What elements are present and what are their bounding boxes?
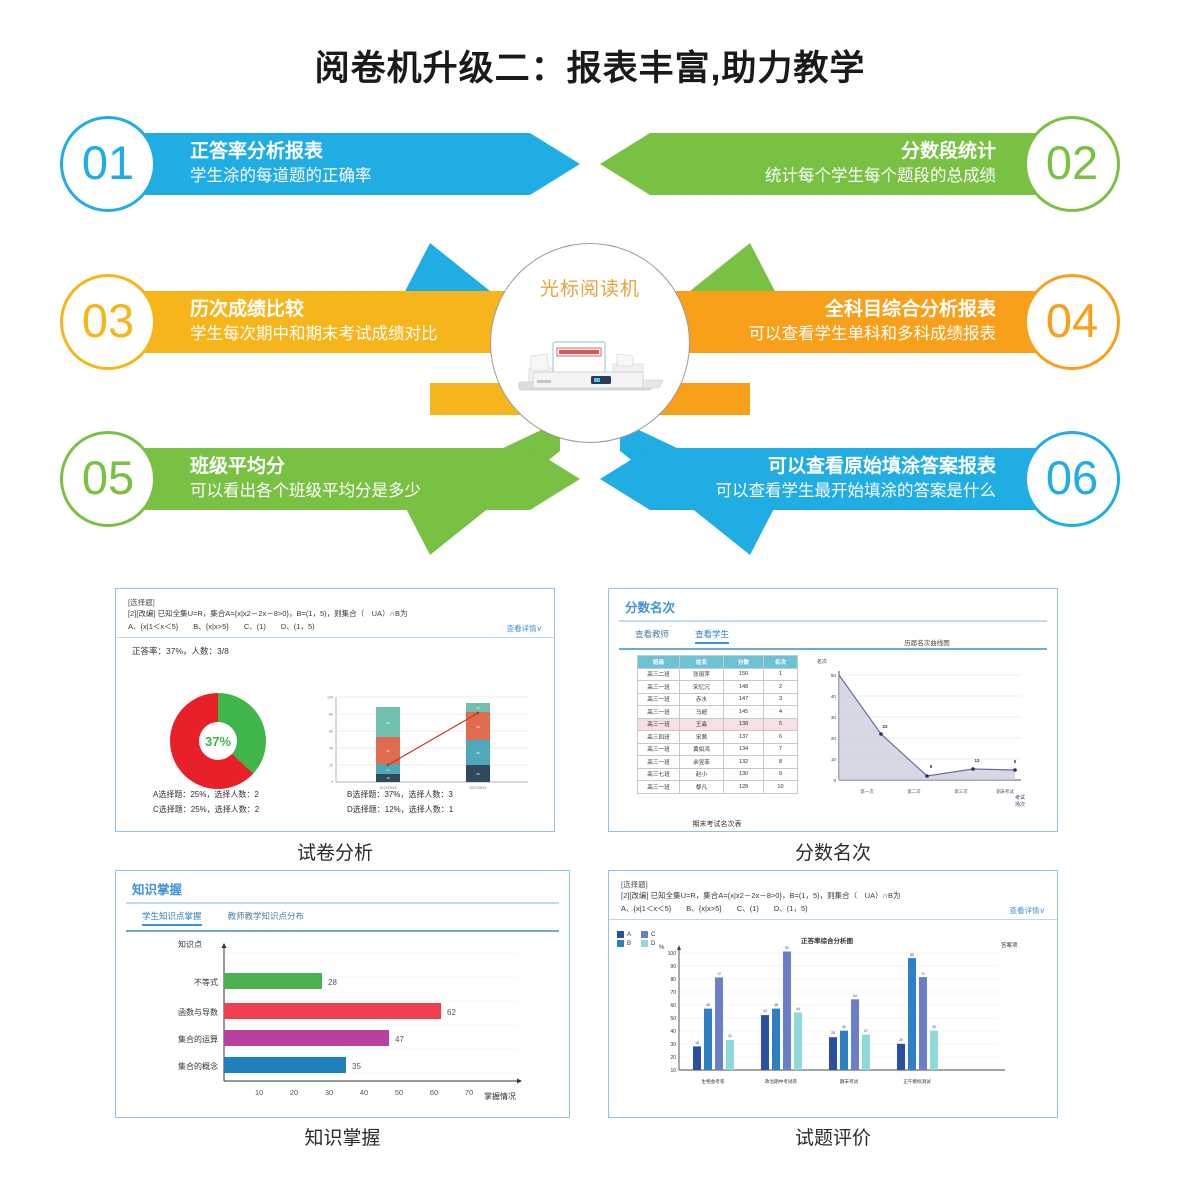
svg-text:20: 20	[290, 1088, 298, 1097]
svg-text:54: 54	[853, 994, 857, 998]
feature-number-label-01: 01	[82, 139, 134, 186]
feature-title-02: 分数段统计	[670, 140, 996, 164]
table-row: 高三一班余昱菲1328	[638, 756, 798, 769]
cell-score: 134	[724, 743, 764, 756]
page-title: 阅卷机升级二：报表丰富,助力教学	[0, 40, 1180, 91]
svg-text:48: 48	[706, 1003, 710, 1007]
screenshot-panels: [选择题] [2][改编] 已知全集U=R，集合A={x|x2－2x－8>0}，…	[0, 580, 1180, 1180]
svg-text:31: 31	[728, 1034, 732, 1038]
feature-title-01: 正答率分析报表	[190, 140, 510, 164]
svg-text:第一次: 第一次	[860, 788, 874, 795]
table-row-highlighted: 高三一班王淼1385	[638, 718, 798, 731]
svg-text:20: 20	[899, 1038, 903, 1042]
cell-class: 高三一班	[638, 781, 680, 794]
point-label: 8	[930, 764, 933, 769]
svg-text:71: 71	[921, 972, 925, 976]
tab-view-teacher[interactable]: 查看教师	[635, 628, 669, 644]
col-class: 班级	[638, 656, 680, 669]
tab-teacher-knowledge[interactable]: 教师教学知识点分布	[228, 910, 305, 926]
chart-right-note: 答案项	[1001, 941, 1018, 949]
bar-functions	[224, 1003, 441, 1019]
panel-caption-item-eval: 试题评价	[608, 1123, 1058, 1150]
cell-name: 宋忆冗	[680, 681, 724, 694]
svg-text:40: 40	[329, 747, 333, 751]
svg-text:0: 0	[833, 778, 836, 783]
feature-title-05: 班级平均分	[190, 455, 510, 479]
svg-text:42: 42	[763, 1009, 767, 1013]
knowledge-tabs: 学生知识点掌握 教师教学知识点分布	[116, 904, 569, 930]
svg-text:期末考试: 期末考试	[996, 788, 1014, 795]
cell-class: 高三一班	[638, 706, 680, 719]
svg-text:30: 30	[842, 1025, 846, 1029]
panel-knowledge[interactable]: 知识掌握 学生知识点掌握 教师教学知识点分布 知识点 掌握情况	[115, 870, 570, 1118]
svg-text:20: 20	[831, 736, 837, 741]
svg-text:0: 0	[331, 780, 333, 784]
axis-label-x: 考试	[1015, 794, 1025, 801]
cell-name: 黎凡	[680, 781, 724, 794]
feature-number-label-04: 04	[1046, 297, 1098, 344]
svg-text:40: 40	[831, 694, 837, 699]
rank-table-caption: 期末考试名次表	[637, 819, 797, 829]
feature-number-06: 06	[1024, 431, 1120, 527]
chart-title-text: 正答率综合分析图	[801, 936, 854, 945]
panel-caption-knowledge: 知识掌握	[115, 1123, 570, 1150]
cell-class: 高三七班	[638, 768, 680, 781]
feature-row-06[interactable]: 可以查看原始填涂答案报表 可以查看学生最开始填涂的答案是什么 06	[600, 440, 1120, 518]
col-score: 分数	[724, 656, 764, 669]
svg-text:100: 100	[668, 951, 677, 957]
svg-text:27: 27	[864, 1029, 868, 1033]
point-label: 13	[974, 758, 980, 763]
svg-text:100: 100	[327, 696, 333, 700]
question-block-2: [选择题] [2][改编] 已知全集U=R，集合A={x|x2－2x－8>0}，…	[609, 871, 1057, 920]
option-stat-a: A选择题：25%，选择人数：2	[153, 787, 323, 802]
axis-label-y: 名次	[817, 658, 827, 665]
feature-banner-01[interactable]: 正答率分析报表 学生涂的每道题的正确率	[120, 133, 580, 195]
knowledge-title: 知识掌握	[116, 871, 569, 902]
svg-text:18: 18	[695, 1041, 699, 1045]
svg-text:70: 70	[670, 990, 676, 996]
svg-text:10: 10	[255, 1088, 263, 1097]
panel-paper-analysis[interactable]: [选择题] [2][改编] 已知全集U=R，集合A={x|x2－2x－8>0}，…	[115, 588, 555, 832]
question-line-1: [2][改编] 已知全集U=R，集合A={x|x2－2x－8>0}，B=(1，5…	[128, 608, 542, 620]
cell-rank: 7	[764, 743, 798, 756]
bar-category: 不等式	[194, 977, 218, 987]
svg-text:第二次: 第二次	[907, 788, 921, 795]
cell-rank: 3	[764, 693, 798, 706]
svg-text:70: 70	[465, 1088, 473, 1097]
cell-class: 高三一班	[638, 718, 680, 731]
cell-class: 高三四班	[638, 731, 680, 744]
bar-inequality	[224, 973, 322, 989]
bar-value: 28	[328, 978, 337, 987]
tab-student-knowledge[interactable]: 学生知识点掌握	[142, 910, 202, 926]
svg-text:60: 60	[329, 730, 333, 734]
svg-text:80: 80	[670, 977, 676, 983]
svg-text:48: 48	[774, 1003, 778, 1007]
cell-rank: 9	[764, 768, 798, 781]
feature-number-label-03: 03	[82, 297, 134, 344]
question-line-2-2: A、{x|1＜x＜5} B、{x|x>5} C、(1) D、(1，5)	[621, 903, 1045, 915]
table-row: 高三一班宋忆冗1482	[638, 681, 798, 694]
svg-text:72: 72	[717, 972, 721, 976]
feature-banner-05[interactable]: 班级平均分 可以看出各个班级平均分是多少	[120, 448, 580, 510]
feature-desc-01: 学生涂的每道题的正确率	[190, 166, 510, 187]
svg-text:40: 40	[670, 1029, 676, 1035]
bar-category: 集合的运算	[178, 1034, 218, 1044]
cell-class: 高三一班	[638, 756, 680, 769]
svg-text:50: 50	[831, 673, 837, 678]
feature-number-label-06: 06	[1046, 454, 1098, 501]
cell-score: 147	[724, 693, 764, 706]
feature-number-label-05: 05	[82, 454, 134, 501]
cell-rank: 10	[764, 781, 798, 794]
cell-score: 128	[724, 781, 764, 794]
bar-value: 47	[395, 1035, 404, 1044]
cell-name: 马超	[680, 706, 724, 719]
col-name: 姓名	[680, 656, 724, 669]
panel-item-eval[interactable]: [选择题] [2][改编] 已知全集U=R，集合A={x|x2－2x－8>0}，…	[608, 870, 1058, 1118]
cell-score: 132	[724, 756, 764, 769]
item-eval-grouped-bar-chart: 正答率综合分析图 答案项 % 10090	[649, 933, 1049, 1113]
svg-text:30: 30	[831, 715, 837, 720]
cell-rank: 2	[764, 681, 798, 694]
group-label: 政治期中考试卷	[765, 1078, 798, 1085]
svg-text:85: 85	[910, 953, 914, 957]
option-stat-d: D选择题：12%，选择人数：1	[347, 802, 517, 817]
panel-caption-paper-analysis: 试卷分析	[115, 838, 555, 865]
cell-name: 王淼	[680, 718, 724, 731]
svg-text:第三次: 第三次	[954, 788, 968, 795]
svg-text:50: 50	[670, 1016, 676, 1022]
cell-name: 赤水	[680, 693, 724, 706]
correct-rate-stat: 正答率：37%，人数：3/8	[116, 638, 554, 657]
question-tag-2: [选择题]	[621, 879, 1045, 890]
question-line-2: A、{x|1＜x＜5} B、{x|x>5} C、(1) D、(1，5)	[128, 621, 542, 633]
feature-desc-05: 可以看出各个班级平均分是多少	[190, 481, 510, 502]
feature-number-04: 04	[1024, 274, 1120, 370]
feature-desc-06: 可以查看学生最开始填涂的答案是什么	[670, 481, 996, 502]
center-hub-label: 光标阅读机	[491, 274, 689, 301]
svg-text:50: 50	[395, 1088, 403, 1097]
cell-score: 138	[724, 718, 764, 731]
svg-text:40: 40	[360, 1088, 368, 1097]
svg-text:80: 80	[329, 713, 333, 717]
cell-rank: 4	[764, 706, 798, 719]
feature-row-02[interactable]: 分数段统计 统计每个学生每个题段的总成绩 02	[600, 125, 1120, 203]
feature-number-05: 05	[60, 431, 156, 527]
correct-rate-donut-chart: 37%	[134, 693, 306, 793]
score-rank-title: 分数名次	[609, 589, 1057, 620]
table-row: 高三一班赤水1473	[638, 693, 798, 706]
feature-number-02: 02	[1024, 116, 1120, 212]
svg-text:20: 20	[670, 1055, 676, 1061]
feature-title-06: 可以查看原始填涂答案报表	[670, 455, 996, 479]
center-hub: 光标阅读机	[490, 243, 690, 443]
cell-name: 宋茜	[680, 731, 724, 744]
panel-caption-score-rank: 分数名次	[608, 838, 1058, 865]
rank-chart-title: 历届名次曲线图	[809, 637, 1045, 647]
rank-table: 班级 姓名 分数 名次 高三二班张丽萍1501 高三一班宋忆冗1482 高三一班…	[637, 655, 798, 794]
table-row: 高三七班赵小1309	[638, 768, 798, 781]
question-block: [选择题] [2][改编] 已知全集U=R，集合A={x|x2－2x－8>0}，…	[116, 589, 554, 638]
table-row: 高三二班张丽萍1501	[638, 668, 798, 681]
svg-text:36: 36	[386, 721, 390, 725]
feature-desc-03: 学生每次期中和期末考试成绩对比	[190, 324, 510, 345]
cell-rank: 8	[764, 756, 798, 769]
svg-text:90: 90	[670, 964, 676, 970]
table-row: 高三一班黎凡12810	[638, 781, 798, 794]
table-header-row: 班级 姓名 分数 名次	[638, 656, 798, 669]
tab-view-student[interactable]: 查看学生	[695, 628, 729, 644]
cell-score: 150	[724, 668, 764, 681]
group-label: 生物会考卷	[702, 1078, 725, 1085]
feature-title-03: 历次成绩比较	[190, 298, 510, 322]
feature-row-05[interactable]: 班级平均分 可以看出各个班级平均分是多少 05	[60, 440, 580, 518]
table-row: 高三四班宋茜1376	[638, 731, 798, 744]
feature-number-03: 03	[60, 274, 156, 370]
group-label: 期末考试	[840, 1078, 859, 1085]
cell-score: 130	[724, 768, 764, 781]
svg-text:30: 30	[325, 1088, 333, 1097]
cell-class: 高三一班	[638, 693, 680, 706]
cell-score: 148	[724, 681, 764, 694]
option-stat-b: B选择题：37%，选择人数：3	[347, 787, 517, 802]
svg-text:30: 30	[670, 1042, 676, 1048]
table-row: 高三一班黄如鸿1347	[638, 743, 798, 756]
axis-label-x: 掌握情况	[484, 1091, 516, 1101]
feature-number-label-02: 02	[1046, 139, 1098, 186]
svg-text:场次: 场次	[1015, 801, 1025, 808]
view-detail-link[interactable]: 查看详情∨	[507, 623, 543, 634]
cell-rank: 1	[764, 668, 798, 681]
feature-desc-04: 可以查看学生单科和多科成绩报表	[670, 324, 996, 345]
svg-text:20: 20	[329, 764, 333, 768]
svg-text:10: 10	[476, 706, 480, 710]
cell-class: 高三一班	[638, 743, 680, 756]
point-label: 5	[1014, 759, 1017, 764]
group-label: 正午模拟测试	[903, 1078, 931, 1085]
knowledge-hbar-chart: 知识点 掌握情况 28	[136, 933, 556, 1108]
bar-category: 集合的概念	[178, 1061, 218, 1071]
option-stacked-bar-chart: 10080 6040 200 1012 3236 2030	[314, 689, 542, 793]
view-detail-link-2[interactable]: 查看详情∨	[1010, 905, 1046, 916]
svg-text:10: 10	[670, 1068, 676, 1074]
cell-class: 高三一班	[638, 681, 680, 694]
feature-number-01: 01	[60, 116, 156, 212]
feature-banner-06[interactable]: 可以查看原始填涂答案报表 可以查看学生最开始填涂的答案是什么	[600, 448, 1060, 510]
cell-class: 高三二班	[638, 668, 680, 681]
bar-value: 62	[447, 1008, 456, 1017]
cell-score: 145	[724, 706, 764, 719]
option-stat-c: C选择题：25%，选择人数：2	[153, 802, 323, 817]
option-stats: A选择题：25%，选择人数：2 B选择题：37%，选择人数：3 C选择题：25%…	[116, 787, 554, 817]
col-rank: 名次	[764, 656, 798, 669]
cell-name: 赵小	[680, 768, 724, 781]
feature-title-04: 全科目综合分析报表	[670, 298, 996, 322]
bar-set-ops	[224, 1030, 389, 1046]
legend-b: B	[627, 941, 631, 947]
svg-text:10: 10	[386, 776, 390, 780]
donut-center-label: 37%	[199, 722, 237, 760]
svg-text:60: 60	[430, 1088, 438, 1097]
table-row: 高三一班马超1454	[638, 706, 798, 719]
donut-ring: 37%	[170, 693, 266, 789]
question-line-2-1: [2][改编] 已知全集U=R，集合A={x|x2－2x－8>0}，B=(1，5…	[621, 890, 1045, 902]
bar-value: 35	[352, 1062, 361, 1071]
bar-category: 函数与导数	[178, 1007, 218, 1017]
point-label: 22	[882, 724, 888, 729]
divider-2	[126, 930, 559, 932]
axis-label-y: %	[659, 945, 665, 951]
cell-rank: 5	[764, 718, 798, 731]
rank-history-area-chart: 名次 考试 场次 5040 3020 100	[809, 647, 1045, 812]
axis-label-y: 知识点	[178, 939, 202, 949]
svg-text:20: 20	[476, 772, 480, 776]
svg-text:92: 92	[785, 946, 789, 950]
svg-text:30: 30	[932, 1025, 936, 1029]
svg-text:12: 12	[386, 768, 390, 772]
scanner-device-icon	[513, 330, 669, 402]
svg-text:25: 25	[831, 1031, 835, 1035]
svg-text:10: 10	[831, 757, 837, 762]
legend-a: A	[627, 932, 631, 938]
cell-name: 黄如鸿	[680, 743, 724, 756]
feature-desc-02: 统计每个学生每个题段的总成绩	[670, 166, 996, 187]
svg-text:33: 33	[476, 725, 480, 729]
bar-set-concept	[224, 1057, 346, 1073]
svg-text:32: 32	[386, 749, 390, 753]
cell-rank: 6	[764, 731, 798, 744]
feature-banner-02[interactable]: 分数段统计 统计每个学生每个题段的总成绩	[600, 133, 1060, 195]
svg-text:30: 30	[476, 751, 480, 755]
cell-score: 137	[724, 731, 764, 744]
cell-name: 张丽萍	[680, 668, 724, 681]
svg-text:44: 44	[796, 1007, 800, 1011]
question-tag: [选择题]	[128, 597, 542, 608]
feature-row-01[interactable]: 正答率分析报表 学生涂的每道题的正确率 01	[60, 125, 580, 203]
cell-name: 余昱菲	[680, 756, 724, 769]
panel-score-rank[interactable]: 分数名次 查看教师 查看学生 班级 姓名 分数 名次 高三二班张丽萍1501 高…	[608, 588, 1058, 832]
svg-text:60: 60	[670, 1003, 676, 1009]
